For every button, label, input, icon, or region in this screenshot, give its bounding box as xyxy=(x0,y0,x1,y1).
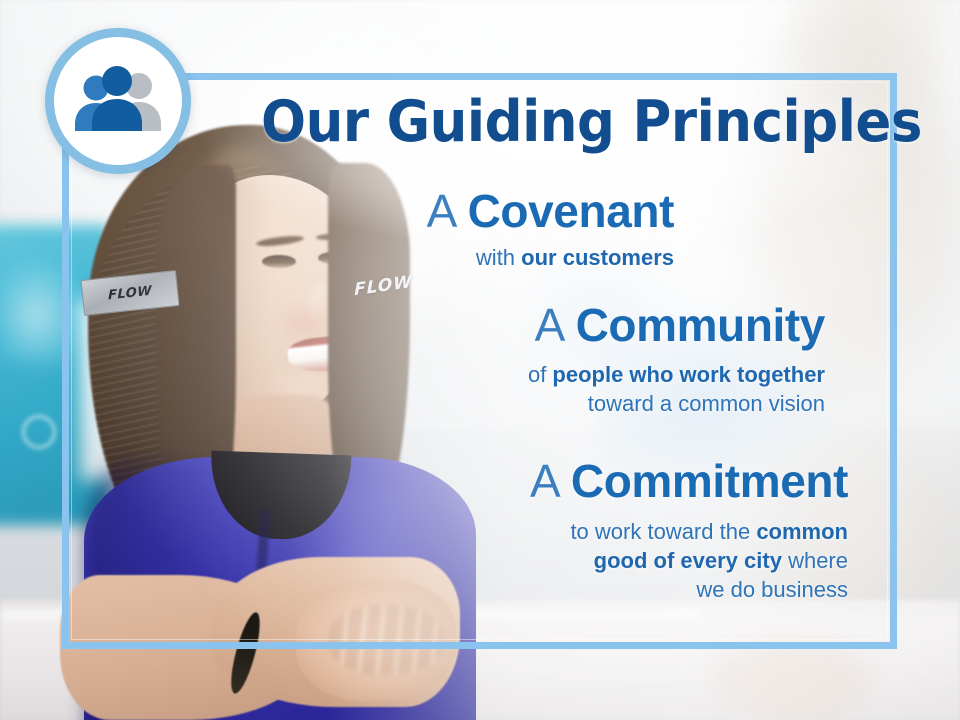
eye-left xyxy=(262,255,296,268)
associate-portrait: FLOW FLOW xyxy=(60,105,480,685)
chest-logo-brand-label: FLOW xyxy=(355,272,413,300)
fingers xyxy=(328,605,444,675)
guiding-principles-graphic: FLOW FLOW xyxy=(0,0,960,720)
people-badge xyxy=(45,28,191,174)
people-group-icon xyxy=(70,66,166,136)
vw-logo-icon xyxy=(22,415,56,449)
nametag-brand-label: FLOW xyxy=(108,283,152,303)
blurred-customer-hand xyxy=(680,630,900,720)
